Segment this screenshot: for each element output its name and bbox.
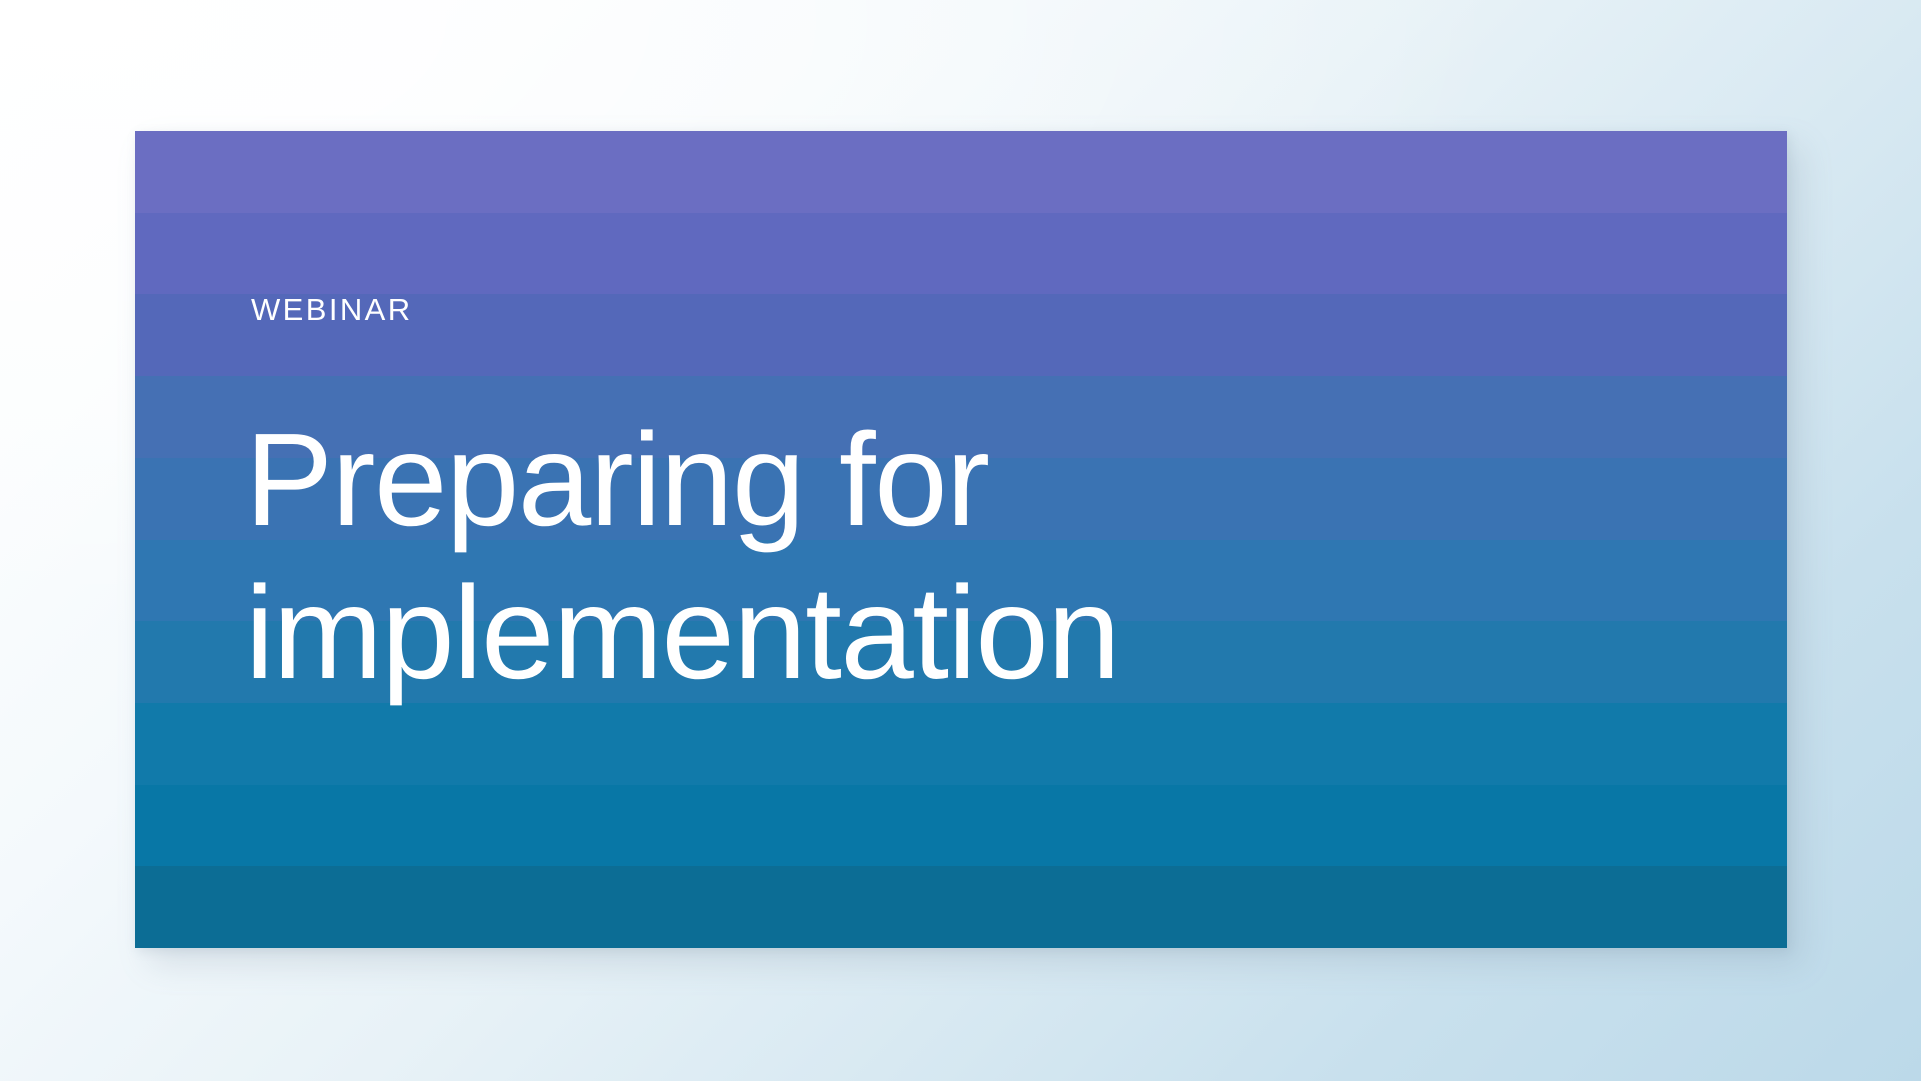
page-title: Preparing for implementation [245, 403, 1119, 709]
page-root: WEBINAR Preparing for implementation [0, 0, 1921, 1081]
card-content: WEBINAR Preparing for implementation [251, 131, 1787, 948]
webinar-hero-card[interactable]: WEBINAR Preparing for implementation [135, 131, 1787, 948]
eyebrow-label: WEBINAR [251, 294, 412, 325]
